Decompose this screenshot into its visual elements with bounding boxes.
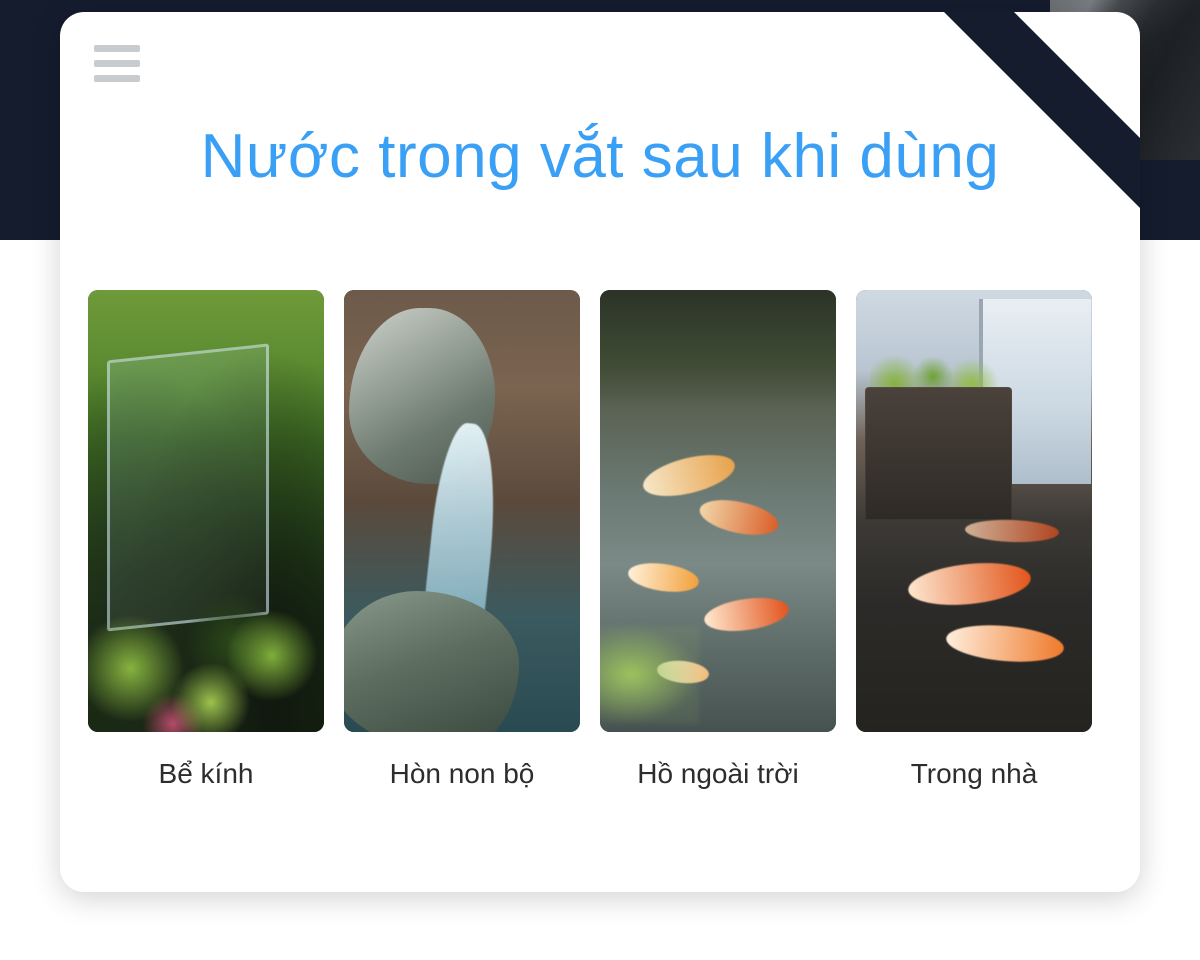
hamburger-line [94, 75, 140, 82]
koi-fish-shape [906, 558, 1032, 610]
koi-fish-shape [944, 621, 1065, 667]
hamburger-menu-icon[interactable] [94, 40, 140, 86]
indoor-pond-photo [856, 290, 1092, 732]
page-title: Nước trong vắt sau khi dùng [60, 124, 1140, 189]
gallery-item[interactable]: Hòn non bộ [344, 290, 580, 790]
gallery-item[interactable]: Bể kính [88, 290, 324, 790]
screen: Nước trong vắt sau khi dùng Bể kính Hòn … [0, 0, 1200, 960]
planted-glass-aquarium-photo [88, 290, 324, 732]
gallery-caption: Bể kính [88, 758, 324, 790]
gallery-item[interactable]: Hồ ngoài trời [600, 290, 836, 790]
outdoor-koi-pond-photo [600, 290, 836, 732]
gallery-image-indoor-pond[interactable] [856, 290, 1092, 732]
planter-box-shape [865, 387, 1011, 520]
gallery-caption: Trong nhà [856, 758, 1092, 790]
gallery-caption: Hòn non bộ [344, 758, 580, 790]
gallery-item[interactable]: Trong nhà [856, 290, 1092, 790]
content-card: Nước trong vắt sau khi dùng Bể kính Hòn … [60, 12, 1140, 892]
hamburger-line [94, 60, 140, 67]
koi-fish-shape [627, 559, 701, 595]
gallery-image-outdoor-pond[interactable] [600, 290, 836, 732]
foliage-blur-shape [600, 626, 699, 723]
koi-fish-shape [702, 594, 790, 636]
koi-fish-shape [964, 518, 1059, 543]
rock-waterfall-photo [344, 290, 580, 732]
pond-rim-shape [600, 290, 836, 405]
gallery: Bể kính Hòn non bộ [88, 290, 1112, 790]
gallery-caption: Hồ ngoài trời [600, 758, 836, 790]
koi-fish-shape [697, 494, 782, 541]
gallery-image-rock-waterfall[interactable] [344, 290, 580, 732]
koi-fish-shape [640, 447, 740, 504]
hamburger-line [94, 45, 140, 52]
rock-shape-bottom [344, 591, 519, 732]
gallery-image-glass-tank[interactable] [88, 290, 324, 732]
